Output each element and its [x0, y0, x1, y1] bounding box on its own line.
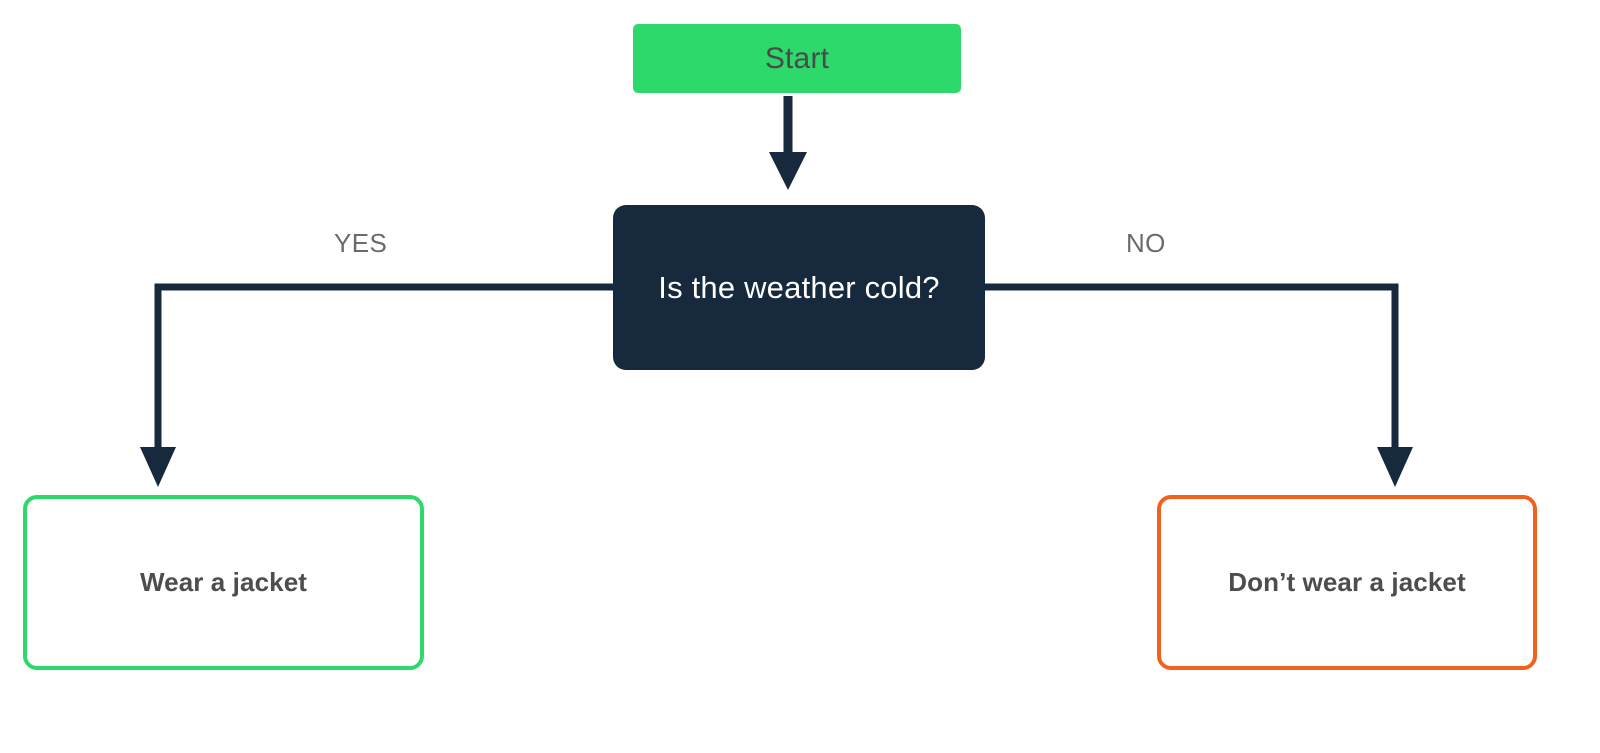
edge-label-no: NO: [1126, 228, 1166, 259]
edge-decision-to-no: [985, 287, 1413, 487]
node-start[interactable]: Start: [633, 24, 961, 93]
node-outcome-dont-wear-jacket[interactable]: Don’t wear a jacket: [1157, 495, 1537, 670]
flowchart-canvas: Start Is the weather cold? YES NO Wear a…: [0, 0, 1600, 753]
edge-start-to-decision: [769, 96, 807, 190]
node-outcome-wear-jacket[interactable]: Wear a jacket: [23, 495, 424, 670]
edge-decision-to-yes: [140, 287, 613, 487]
edge-label-yes: YES: [334, 228, 387, 259]
node-decision-weather-cold[interactable]: Is the weather cold?: [613, 205, 985, 370]
